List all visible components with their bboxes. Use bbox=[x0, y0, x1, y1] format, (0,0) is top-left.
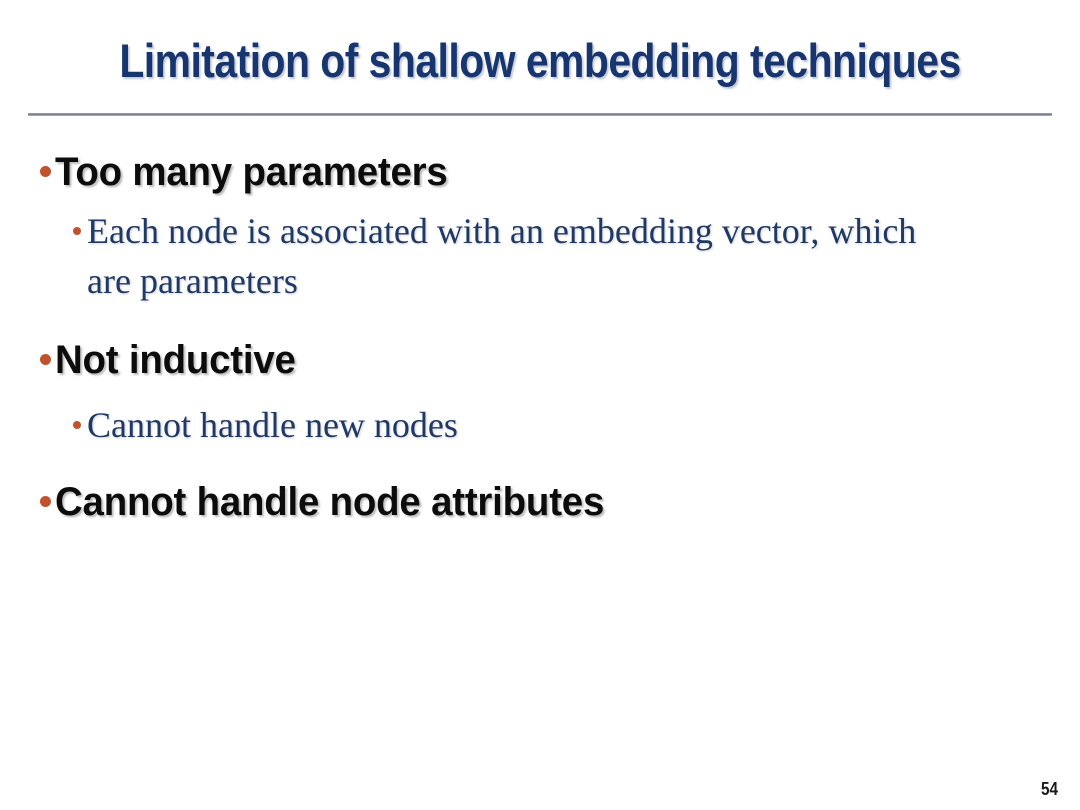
bullet-text-level1: Too many parameters bbox=[55, 146, 448, 198]
page-title: Limitation of shallow embedding techniqu… bbox=[95, 34, 986, 88]
bullet-dot-icon bbox=[40, 496, 51, 507]
bullet-text-level1: Cannot handle node attributes bbox=[55, 476, 604, 528]
bullet-text-level2: Each node is associated with an embeddin… bbox=[87, 206, 947, 306]
slide-title-container: Limitation of shallow embedding techniqu… bbox=[28, 34, 1052, 88]
title-divider bbox=[28, 113, 1052, 116]
list-item: Cannot handle new nodes bbox=[30, 400, 1040, 450]
list-item: Each node is associated with an embeddin… bbox=[30, 206, 1040, 306]
bullet-text-level2: Cannot handle new nodes bbox=[87, 400, 458, 450]
bullet-list: Too many parameters Each node is associa… bbox=[30, 140, 1040, 528]
bullet-dot-icon bbox=[73, 227, 81, 235]
bullet-text-level1: Not inductive bbox=[55, 334, 296, 386]
spacer bbox=[30, 450, 1040, 470]
list-item: Not inductive bbox=[30, 334, 1040, 386]
slide-number: 54 bbox=[1041, 779, 1058, 800]
slide-canvas: Limitation of shallow embedding techniqu… bbox=[0, 0, 1080, 810]
list-item: Cannot handle node attributes bbox=[30, 476, 1040, 528]
spacer bbox=[30, 306, 1040, 328]
list-item: Too many parameters bbox=[30, 146, 1040, 198]
bullet-dot-icon bbox=[73, 421, 81, 429]
spacer bbox=[30, 386, 1040, 392]
bullet-dot-icon bbox=[40, 354, 51, 365]
bullet-dot-icon bbox=[40, 166, 51, 177]
